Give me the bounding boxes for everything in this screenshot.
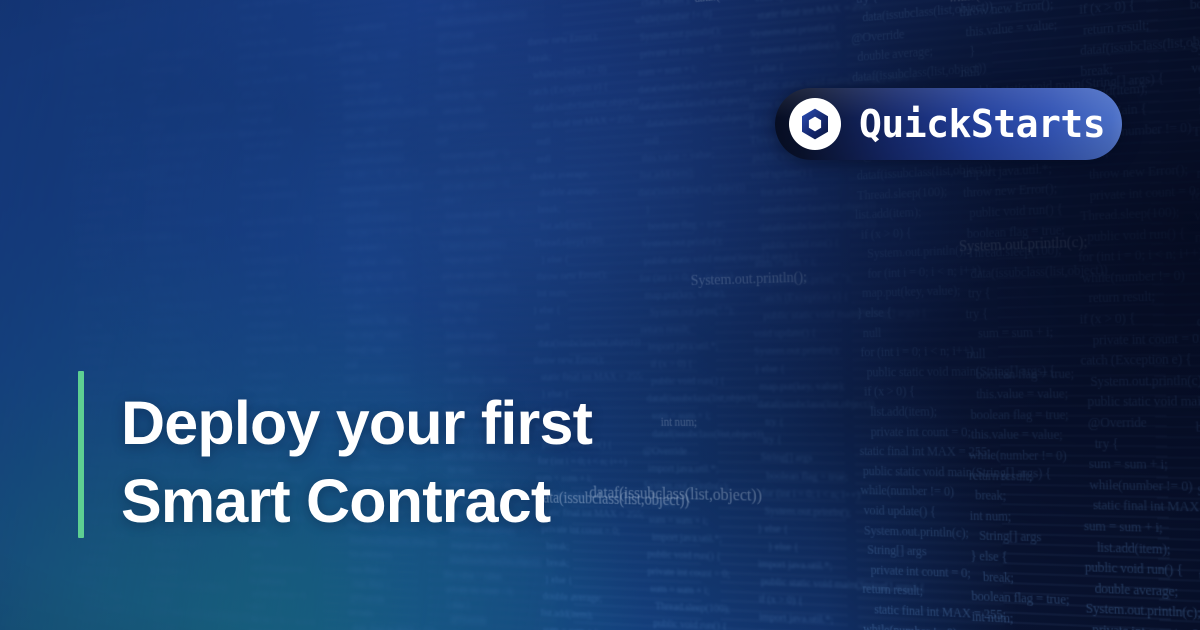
- green-accent-bar: [78, 371, 84, 538]
- headline-line-1: Deploy your first: [121, 384, 741, 462]
- brand-name-label: QuickStarts: [859, 105, 1105, 143]
- chainlink-hexagon-icon: [789, 98, 841, 150]
- headline-line-2: Smart Contract: [121, 462, 741, 540]
- quickstarts-banner: System.out.print(" "); int num; return r…: [0, 0, 1200, 630]
- brand-pill-badge[interactable]: QuickStarts: [775, 88, 1122, 160]
- page-title: Deploy your first Smart Contract: [121, 384, 741, 540]
